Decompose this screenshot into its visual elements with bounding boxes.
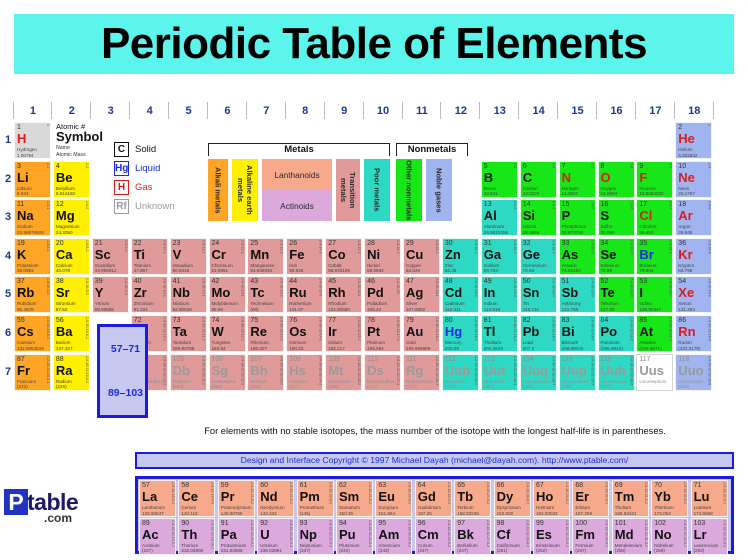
element-name: Zirconium: [134, 301, 154, 306]
element-cell-Cf[interactable]: 98CfCalifornium(251)2-8-18-32-28-8-2: [494, 518, 531, 555]
element-atomic-mass: (208.9824): [601, 346, 623, 351]
element-symbol: Tb: [457, 490, 473, 504]
element-atomic-mass: 6.941: [17, 191, 29, 196]
element-cell-Cr[interactable]: 24CrChromium51.99612-8-13-1: [209, 238, 246, 275]
element-cell-Uus[interactable]: 117UusUnunseptium: [636, 354, 673, 391]
page-title: Periodic Table of Elements: [101, 22, 647, 66]
element-name: Germanium: [523, 263, 547, 268]
element-name: Platinum: [367, 340, 385, 345]
element-cell-Ir[interactable]: 77IrIridium192.2172-8-18-32-15-2: [325, 315, 362, 352]
element-cell-Li[interactable]: 3LiLithium6.9412-1: [14, 161, 51, 198]
element-cell-Ni[interactable]: 28NiNickel58.69342-8-16-2: [364, 238, 401, 275]
element-cell-Md[interactable]: 101MdMendelevium(258)2-8-18-32-31-8-2: [612, 518, 649, 555]
element-cell-Al[interactable]: 13AlAluminum26.98153862-8-3: [481, 199, 518, 236]
element-cell-Zr[interactable]: 40ZrZirconium91.2242-8-18-10-2: [131, 276, 168, 313]
element-symbol: Uut: [484, 364, 506, 378]
element-cell-Bh[interactable]: 107BhBohrium(264)2-8-18-32-32-13-2: [247, 354, 284, 391]
element-cell-Ce[interactable]: 58CeCerium140.1162-8-18-19-9-2: [178, 480, 215, 517]
element-cell-Pr[interactable]: 59PrPraseodymium140.907652-8-18-21-8-2: [218, 480, 255, 517]
element-electron-configuration: 2-8-18-32-32-14-2: [315, 356, 322, 391]
element-cell-Cu[interactable]: 29CuCopper63.5462-8-18-1: [403, 238, 440, 275]
element-cell-Uuq[interactable]: 114UuqUnunquadium(289)2-8-18-32-32-18-4: [520, 354, 557, 391]
category-swatch-poor-metals[interactable]: Poor metals: [364, 159, 390, 221]
element-cell-In[interactable]: 49InIndium114.8182-8-18-18-3: [481, 276, 518, 313]
element-cell-Cs[interactable]: 55CsCaesium132.90545192-8-18-18-8-1: [14, 315, 51, 352]
element-cell-H[interactable]: 1HHydrogen1.007941: [14, 122, 51, 159]
element-cell-Tb[interactable]: 65TbTerbium158.925352-8-18-27-8-2: [454, 480, 491, 517]
group-separator: [674, 102, 675, 119]
element-cell-Kr[interactable]: 36KrKrypton83.7982-8-18-8: [675, 238, 712, 275]
element-atomic-mass: 174.9668: [694, 511, 713, 516]
element-name: Californium: [497, 543, 520, 548]
element-cell-Ba[interactable]: 56BaBarium137.3272-8-18-18-8-2: [53, 315, 90, 352]
state-legend: CSolidHgLiquidHGasRfUnknown: [114, 142, 204, 220]
element-cell-Eu[interactable]: 63EuEuropium151.9642-8-18-25-8-2: [375, 480, 412, 517]
group-separator: [479, 102, 480, 119]
element-cell-Ra[interactable]: 88RaRadium(226)2-8-18-32-18-8-2: [53, 354, 90, 391]
element-cell-K[interactable]: 19KPotassium39.09832-8-8-1: [14, 238, 51, 275]
element-cell-Cd[interactable]: 48CdCadmium112.4112-8-18-18-2: [442, 276, 479, 313]
element-electron-configuration: 2-8-18-32-27-8-2: [483, 520, 490, 555]
element-atomic-mass: 44.955912: [95, 268, 117, 273]
element-electron-configuration: 2-7: [665, 163, 672, 198]
element-name: Lanthanum: [142, 505, 165, 510]
element-cell-Tl[interactable]: 81TlThallium204.38332-8-18-32-18-3: [481, 315, 518, 352]
element-name: Helium: [678, 147, 692, 152]
element-name: Calcium: [56, 263, 73, 268]
element-cell-At[interactable]: 85AtAstatine(209.9871)2-8-18-32-18-7: [636, 315, 673, 352]
element-atomic-mass: (145): [300, 511, 311, 516]
element-electron-configuration: 2-8-5: [588, 201, 595, 236]
element-cell-P[interactable]: 15PPhosphorus30.9737622-8-5: [559, 199, 596, 236]
element-atomic-mass: 106.42: [367, 307, 381, 312]
group-number-17: 17: [636, 104, 674, 118]
element-cell-Rb[interactable]: 37RbRubidium85.46782-8-18-8-1: [14, 276, 51, 313]
element-name: Meitnerium: [328, 379, 351, 384]
element-symbol: Th: [181, 528, 197, 542]
element-electron-configuration: 2-8-18-32-9-2: [720, 482, 727, 517]
element-symbol: Eu: [378, 490, 395, 504]
category-swatch-alkaline-earth-metals[interactable]: Alkaline earth metals: [232, 159, 258, 221]
state-swatch-gas: H: [114, 180, 129, 195]
element-symbol: Pa: [221, 528, 237, 542]
element-cell-Pt[interactable]: 78PtPlatinum195.0842-8-18-32-17-1: [364, 315, 401, 352]
element-cell-Ge[interactable]: 32GeGermanium72.642-8-18-4: [520, 238, 557, 275]
element-atomic-mass: 50.9415: [173, 268, 190, 273]
element-cell-Hg[interactable]: 80HgMercury200.592-8-18-32-18-2: [442, 315, 479, 352]
element-symbol: Sg: [212, 364, 229, 378]
element-electron-configuration: 2-8-13-1: [238, 240, 245, 275]
element-symbol: Br: [639, 248, 653, 262]
element-cell-Uup[interactable]: 115UupUnunpentium(288)2-8-18-32-32-18-5: [559, 354, 596, 391]
element-atomic-mass: (257): [575, 548, 586, 553]
element-cell-Ag[interactable]: 47AgSilver107.86822-8-18-18-1: [403, 276, 440, 313]
element-cell-Dy[interactable]: 66DyDysprosium162.5002-8-18-28-8-2: [494, 480, 531, 517]
element-symbol: Pb: [523, 325, 540, 339]
element-symbol: P: [562, 209, 571, 223]
period-number-1: 1: [2, 134, 14, 146]
element-cell-Sc[interactable]: 21ScScandium44.9559122-8-9-2: [92, 238, 129, 275]
element-cell-Re[interactable]: 75ReRhenium186.2072-8-18-32-13-2: [247, 315, 284, 352]
element-electron-configuration: 2-8-16-2: [393, 240, 400, 275]
element-atomic-mass: 126.90447: [639, 307, 661, 312]
element-cell-Sg[interactable]: 106SgSeaborgium(266)2-8-18-32-32-12-2: [209, 354, 246, 391]
element-cell-Uut[interactable]: 113UutUnuntrium(284)2-8-18-32-32-18-3: [481, 354, 518, 391]
fblock-placeholder-actinoids[interactable]: 89–103: [100, 371, 151, 415]
element-cell-Y[interactable]: 39YYttrium88.905852-8-18-9-2: [92, 276, 129, 313]
element-cell-Ac[interactable]: 89AcActinium(227)2-8-18-32-18-9-2: [139, 518, 176, 555]
element-electron-configuration: 2-8: [704, 163, 711, 198]
element-cell-Uub[interactable]: 112UubUnunbium(285)2-8-18-32-32-18-2: [442, 354, 479, 391]
element-cell-Nb[interactable]: 41NbNiobium92.906382-8-18-12-1: [170, 276, 207, 313]
element-electron-configuration: 2-8-9-2: [121, 240, 128, 275]
element-cell-W[interactable]: 74WTungsten183.842-8-18-32-12-2: [209, 315, 246, 352]
element-name: Zinc: [445, 263, 454, 268]
element-name: Plutonium: [339, 543, 359, 548]
element-symbol: Rn: [678, 325, 695, 339]
group-separator: [518, 102, 519, 119]
element-cell-Po[interactable]: 84PoPolonium(208.9824)2-8-18-32-18-6: [598, 315, 635, 352]
state-swatch-unknown: Rf: [114, 199, 129, 214]
element-electron-configuration: 2-8-18-16-1: [354, 278, 361, 313]
element-cell-Hs[interactable]: 108HsHassium(277)2-8-18-32-32-14-2: [286, 354, 323, 391]
category-swatch-label: Poor metals: [364, 159, 390, 221]
legend-mass-label: Atomic Mass: [56, 152, 86, 158]
element-atomic-mass: 183.84: [212, 346, 226, 351]
element-symbol: Fr: [17, 364, 30, 378]
element-symbol: Np: [300, 528, 317, 542]
element-name: Tin: [523, 301, 529, 306]
element-cell-Bk[interactable]: 97BkBerkelium(247)2-8-18-32-27-8-2: [454, 518, 491, 555]
element-cell-As[interactable]: 33AsArsenic74.921602-8-18-5: [559, 238, 596, 275]
fblock-placeholder-lanthanoids[interactable]: 57–71: [100, 327, 151, 371]
element-cell-Te[interactable]: 52TeTellurium127.602-8-18-18-6: [598, 276, 635, 313]
logo-p-mark: P: [4, 489, 28, 515]
element-symbol: At: [639, 325, 653, 339]
element-electron-configuration: 2-4: [549, 163, 556, 198]
element-cell-Rn[interactable]: 86RnRadon(222.0176)2-8-18-32-18-8: [675, 315, 712, 352]
element-electron-configuration: 2-8-18-18: [393, 278, 400, 313]
element-cell-O[interactable]: 8OOxygen15.99942-6: [598, 161, 635, 198]
element-electron-configuration: 2-8-18-32-18-10-2: [207, 520, 214, 555]
element-cell-Se[interactable]: 34SeSelenium78.962-8-18-6: [598, 238, 635, 275]
element-symbol: Rb: [17, 286, 34, 300]
element-symbol: Lr: [694, 528, 707, 542]
group-number-15: 15: [559, 104, 597, 118]
element-cell-Co[interactable]: 27CoCobalt58.9331952-8-15-2: [325, 238, 362, 275]
element-electron-configuration: 2-8-18-32-18-6: [627, 317, 634, 352]
element-symbol: Te: [601, 286, 615, 300]
element-electron-configuration: 2-8-18-32-21-9-2: [286, 520, 293, 555]
element-electron-configuration: 2-8-18-18-6: [627, 278, 634, 313]
element-electron-configuration: 2-8-18-13-1: [238, 278, 245, 313]
element-electron-configuration: 2-8-18-32-25-8-2: [404, 520, 411, 555]
element-cell-Na[interactable]: 11NaSodium22.989769282-8-1: [14, 199, 51, 236]
element-symbol: Fm: [575, 528, 595, 542]
category-swatch-label: Lanthanoids: [262, 159, 332, 190]
element-cell-Lu[interactable]: 71LuLutetium174.96682-8-18-32-9-2: [691, 480, 728, 517]
element-cell-Zn[interactable]: 30ZnZinc65.382-8-18-2: [442, 238, 479, 275]
element-atomic-mass: (244): [339, 548, 350, 553]
element-name: Cobalt: [328, 263, 341, 268]
element-atomic-mass: 91.224: [134, 307, 148, 312]
element-symbol: Rh: [328, 286, 345, 300]
element-atomic-mass: (288): [562, 384, 573, 389]
element-cell-V[interactable]: 23VVanadium50.94152-8-11-2: [170, 238, 207, 275]
element-symbol: Re: [250, 325, 267, 339]
element-symbol: Na: [17, 209, 34, 223]
element-cell-Ho[interactable]: 67HoHolmium164.930322-8-18-29-8-2: [533, 480, 570, 517]
element-name: Mendelevium: [615, 543, 642, 548]
element-symbol: Ag: [406, 286, 423, 300]
element-name: Titanium: [134, 263, 151, 268]
element-name: Actinium: [142, 543, 160, 548]
element-cell-C[interactable]: 6CCarbon12.01072-4: [520, 161, 557, 198]
element-atomic-mass: 207.2: [523, 346, 535, 351]
element-electron-configuration: 2-8-18-32-32-15-2: [354, 356, 361, 391]
element-cell-Yb[interactable]: 70YbYtterbium173.0542-8-18-32-8-2: [651, 480, 688, 517]
group-number-8: 8: [286, 104, 324, 118]
element-cell-Br[interactable]: 35BrBromine79.9042-8-18-7: [636, 238, 673, 275]
element-name: Iodine: [639, 301, 652, 306]
element-atomic-mass: (223): [17, 384, 28, 389]
element-cell-Ru[interactable]: 44RuRuthenium101.072-8-18-15-1: [286, 276, 323, 313]
element-atomic-mass: 12.0107: [523, 191, 540, 196]
element-electron-configuration: 2-8-18-18-8-2: [82, 317, 89, 352]
element-cell-Bi[interactable]: 83BiBismuth208.980402-8-18-32-18-5: [559, 315, 596, 352]
element-atomic-mass: 65.38: [445, 268, 457, 273]
element-cell-Uuh[interactable]: 116UuhUnunhexium(292)2-8-18-32-32-18-6: [598, 354, 635, 391]
element-symbol: Uup: [562, 364, 587, 378]
element-atomic-mass: (294): [678, 384, 689, 389]
element-symbol: Mg: [56, 209, 75, 223]
element-electron-configuration: 2-8-18-9-2: [121, 278, 128, 313]
element-symbol: Sr: [56, 286, 70, 300]
element-cell-Be[interactable]: 4BeBeryllium9.0121822-2: [53, 161, 90, 198]
element-symbol: Nd: [260, 490, 277, 504]
element-atomic-mass: (237): [300, 548, 311, 553]
element-symbol: Sc: [95, 248, 111, 262]
state-swatch-liquid: Hg: [114, 161, 129, 176]
element-cell-Uuo[interactable]: 118UuoUnunoctium(294)2-8-18-32-32-18-8: [675, 354, 712, 391]
element-name: Francium: [17, 379, 36, 384]
element-name: Ununpentium: [562, 379, 589, 384]
element-atomic-mass: 54.938045: [250, 268, 272, 273]
category-bracket-metals: Metals: [208, 143, 390, 156]
category-bracket-label: Nonmetals: [397, 144, 467, 156]
element-cell-Db[interactable]: 105DbDubnium(262)2-8-18-32-32-11-2: [170, 354, 207, 391]
element-name: Osmium: [289, 340, 306, 345]
element-electron-configuration: 2-8-18-30-8-2: [601, 482, 608, 517]
element-cell-Gd[interactable]: 64GdGadolinium157.252-8-18-25-9-2: [415, 480, 452, 517]
group-number-18: 18: [675, 104, 713, 118]
element-atomic-mass: 196.966569: [406, 346, 430, 351]
element-electron-configuration: 2-8-18-31-8-2: [641, 482, 648, 517]
group-number-2: 2: [53, 104, 91, 118]
element-symbol: Uuo: [678, 364, 703, 378]
element-cell-Pd[interactable]: 46PdPalladium106.422-8-18-18: [364, 276, 401, 313]
element-atomic-mass: 192.217: [328, 346, 345, 351]
element-symbol: Fe: [289, 248, 304, 262]
group-separator: [557, 102, 558, 119]
element-cell-Rg[interactable]: 111RgRoentgenium(272)2-8-18-32-32-18-1: [403, 354, 440, 391]
element-name: Copper: [406, 263, 421, 268]
element-name: Phosphorus: [562, 224, 587, 229]
element-electron-configuration: 2-8-18-13-2: [276, 278, 283, 313]
element-atomic-mass: 158.92535: [457, 511, 479, 516]
element-cell-He[interactable]: 2HeHelium4.0026022: [675, 122, 712, 159]
element-name: Gallium: [484, 263, 500, 268]
element-name: Chlorine: [639, 224, 656, 229]
group-separator: [324, 102, 325, 119]
category-swatch-noble-gases[interactable]: Noble gases: [426, 159, 452, 221]
element-symbol: Tc: [250, 286, 264, 300]
category-swatch-alkali-metals[interactable]: Alkali metals: [208, 159, 228, 221]
category-swatch-other-nonmetals[interactable]: Other nonmetals: [396, 159, 422, 221]
element-cell-U[interactable]: 92UUranium238.028912-8-18-32-21-9-2: [257, 518, 294, 555]
element-cell-Nd[interactable]: 60NdNeodymium144.2422-8-18-22-8-2: [257, 480, 294, 517]
element-name: Thulium: [615, 505, 631, 510]
element-symbol: Uub: [445, 364, 470, 378]
element-symbol: Si: [523, 209, 535, 223]
element-electron-configuration: 2-8-18-32-32-12-2: [238, 356, 245, 391]
fblock-placeholder-box[interactable]: 57–7189–103: [97, 324, 148, 418]
element-cell-La[interactable]: 57LaLanthanum138.905472-8-18-18-9-2: [139, 480, 176, 517]
element-atomic-mass: 55.845: [289, 268, 303, 273]
element-cell-Am[interactable]: 95AmAmericium(243)2-8-18-32-25-8-2: [375, 518, 412, 555]
element-atomic-mass: 32.065: [601, 230, 615, 235]
element-atomic-mass: 28.0855: [523, 230, 540, 235]
element-cell-Lr[interactable]: 103LrLawrencium(262)2-8-18-32-32-8-3: [691, 518, 728, 555]
element-electron-configuration: 2-8-4: [549, 201, 556, 236]
element-cell-Si[interactable]: 14SiSilicon28.08552-8-4: [520, 199, 557, 236]
element-cell-F[interactable]: 9FFluorine18.99840322-7: [636, 161, 673, 198]
element-atomic-mass: (98): [250, 307, 258, 312]
element-electron-configuration: 2-8-18-10-2: [160, 278, 167, 313]
element-cell-Sm[interactable]: 62SmSamarium150.362-8-18-24-8-2: [336, 480, 373, 517]
element-cell-Fr[interactable]: 87FrFrancium(223)2-8-18-32-18-8-1: [14, 354, 51, 391]
element-cell-Pa[interactable]: 91PaProtactinium231.035882-8-18-32-20-9-…: [218, 518, 255, 555]
element-cell-Pm[interactable]: 61PmPromethium(145)2-8-18-23-8-2: [297, 480, 334, 517]
element-atomic-mass: 85.4678: [17, 307, 34, 312]
element-electron-configuration: 2-8-18-32-17-1: [393, 317, 400, 352]
element-electron-configuration: 2-8-18-18-7: [665, 278, 672, 313]
element-symbol: Ho: [536, 490, 553, 504]
element-electron-configuration: 2-8-18-28-8-2: [523, 482, 530, 517]
element-atomic-mass: 164.93032: [536, 511, 558, 516]
element-symbol: Pd: [367, 286, 384, 300]
element-electron-configuration: 2-8-18-32-11-2: [199, 317, 206, 352]
element-atomic-mass: 190.23: [289, 346, 303, 351]
element-cell-Ca[interactable]: 20CaCalcium40.0782-8-8-2: [53, 238, 90, 275]
element-atomic-mass: 162.500: [497, 511, 514, 516]
element-electron-configuration: 2-8-18-32-24-8-2: [365, 520, 372, 555]
element-cell-Rh[interactable]: 45RhRhodium102.905502-8-18-16-1: [325, 276, 362, 313]
element-cell-Os[interactable]: 76OsOsmium190.232-8-18-32-14-2: [286, 315, 323, 352]
element-cell-Mo[interactable]: 42MoMolybdenum95.962-8-18-13-1: [209, 276, 246, 313]
element-atomic-mass: 24.3050: [56, 230, 73, 235]
element-cell-Sr[interactable]: 38SrStrontium87.622-8-18-8-2: [53, 276, 90, 313]
element-cell-Er[interactable]: 68ErErbium167.2592-8-18-30-8-2: [572, 480, 609, 517]
element-electron-configuration: 2-8-18-32-32-18-2: [471, 356, 478, 391]
element-electron-configuration: 2-8-18-18-1: [432, 278, 439, 313]
element-name: Lutetium: [694, 505, 712, 510]
element-cell-Sn[interactable]: 50SnTin118.7102-8-18-18-4: [520, 276, 557, 313]
ptable-logo[interactable]: P table .com: [2, 487, 90, 533]
element-cell-No[interactable]: 102NoNobelium(259)2-8-18-32-32-8-2: [651, 518, 688, 555]
element-cell-Ne[interactable]: 10NeNeon20.17972-8: [675, 161, 712, 198]
element-cell-I[interactable]: 53IIodine126.904472-8-18-18-7: [636, 276, 673, 313]
element-cell-N[interactable]: 7NNitrogen14.00672-5: [559, 161, 596, 198]
category-swatch-lanthanoids[interactable]: Lanthanoids: [262, 159, 332, 190]
element-atomic-mass: (251): [497, 548, 508, 553]
element-name: Thallium: [484, 340, 501, 345]
element-symbol: Zr: [134, 286, 147, 300]
element-symbol: Db: [173, 364, 190, 378]
element-cell-Tc[interactable]: 43TcTechnetium(98)2-8-18-13-2: [247, 276, 284, 313]
element-cell-Cl[interactable]: 17ClChlorine35.4532-8-7: [636, 199, 673, 236]
element-electron-configuration: 2-8-18-32-30-8-2: [601, 520, 608, 555]
element-cell-Pu[interactable]: 94PuPlutonium(244)2-8-18-32-24-8-2: [336, 518, 373, 555]
element-symbol: Cd: [445, 286, 462, 300]
element-electron-configuration: 2-8-18-23-8-2: [326, 482, 333, 517]
element-cell-Mt[interactable]: 109MtMeitnerium(268)2-8-18-32-32-15-2: [325, 354, 362, 391]
element-cell-Np[interactable]: 93NpNeptunium(237)2-8-18-32-22-9-2: [297, 518, 334, 555]
category-swatch-transition-metals[interactable]: Transition metals: [336, 159, 360, 221]
element-cell-Mn[interactable]: 25MnManganese54.9380452-8-13-2: [247, 238, 284, 275]
element-name: Oxygen: [601, 186, 617, 191]
element-atomic-mass: 131.293: [678, 307, 695, 312]
element-cell-Fe[interactable]: 26FeIron55.8452-8-14-2: [286, 238, 323, 275]
element-cell-Ga[interactable]: 31GaGallium69.7232-8-18-3: [481, 238, 518, 275]
element-name: Promethium: [300, 505, 325, 510]
element-name: Ruthenium: [289, 301, 311, 306]
element-symbol: Rg: [406, 364, 423, 378]
element-cell-Cm[interactable]: 96CmCurium(247)2-8-18-32-25-9-2: [415, 518, 452, 555]
element-name: Nobelium: [654, 543, 673, 548]
element-cell-Tm[interactable]: 69TmThulium168.934212-8-18-31-8-2: [612, 480, 649, 517]
element-symbol: La: [142, 490, 157, 504]
element-cell-Au[interactable]: 79AuGold196.9665692-8-18-32-18-1: [403, 315, 440, 352]
element-name: Ununhexium: [601, 379, 627, 384]
element-cell-S[interactable]: 16SSulfur32.0652-8-6: [598, 199, 635, 236]
element-cell-Ar[interactable]: 18ArArgon39.9482-8-8: [675, 199, 712, 236]
copyright-bar[interactable]: Design and Interface Copyright © 1997 Mi…: [135, 452, 734, 469]
element-cell-Fm[interactable]: 100FmFermium(257)2-8-18-32-30-8-2: [572, 518, 609, 555]
element-name: Bismuth: [562, 340, 579, 345]
element-cell-Sb[interactable]: 51SbAntimony121.7602-8-18-18-5: [559, 276, 596, 313]
element-cell-Ds[interactable]: 110DsDarmstadtium(271)2-8-18-32-32-17-1: [364, 354, 401, 391]
element-name: Tungsten: [212, 340, 231, 345]
category-legend: MetalsNonmetalsAlkali metalsAlkaline ear…: [208, 143, 468, 221]
element-cell-Ta[interactable]: 73TaTantalum180.947882-8-18-32-11-2: [170, 315, 207, 352]
element-cell-Es[interactable]: 99EsEinsteinium(252)2-8-18-32-29-8-2: [533, 518, 570, 555]
category-swatch-actinoids[interactable]: Actinoids: [262, 190, 332, 221]
element-name: Radium: [56, 379, 72, 384]
element-cell-B[interactable]: 5BBoron10.8112-3: [481, 161, 518, 198]
element-symbol: W: [212, 325, 224, 339]
element-atomic-mass: (247): [418, 548, 429, 553]
element-cell-Th[interactable]: 90ThThorium232.038062-8-18-32-18-10-2: [178, 518, 215, 555]
group-separator: [596, 102, 597, 119]
element-atomic-mass: 137.327: [56, 346, 73, 351]
element-cell-Ti[interactable]: 22TiTitanium47.8672-8-10-2: [131, 238, 168, 275]
element-symbol: In: [484, 286, 496, 300]
element-cell-Mg[interactable]: 12MgMagnesium24.30502-8-2: [53, 199, 90, 236]
element-name: Terbium: [457, 505, 473, 510]
element-cell-Xe[interactable]: 54XeXenon131.2932-8-18-18-8: [675, 276, 712, 313]
element-cell-Pb[interactable]: 82PbLead207.22-8-18-32-18-4: [520, 315, 557, 352]
